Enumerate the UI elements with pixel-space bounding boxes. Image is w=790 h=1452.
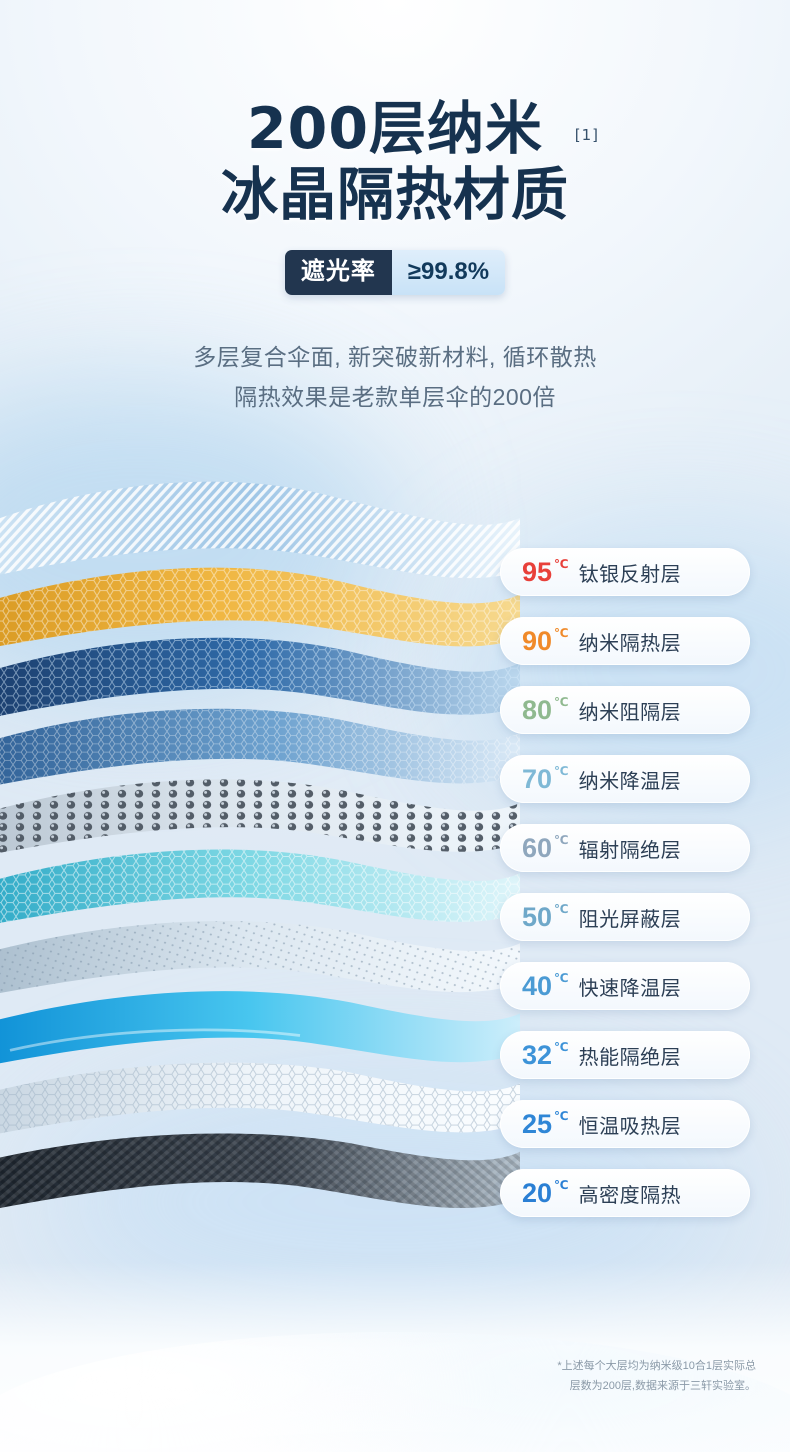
layer-label-2: 90℃ 纳米隔热层 bbox=[500, 617, 750, 665]
layer-unit-7: ℃ bbox=[554, 971, 569, 985]
shading-rate-label: 遮光率 bbox=[285, 250, 392, 295]
layer-label-list: 95℃ 钛银反射层 90℃ 纳米隔热层 80℃ 纳米阻隔层 70℃ 纳米降温层 … bbox=[500, 548, 750, 1238]
shading-rate-value: ≥99.8% bbox=[392, 250, 505, 295]
layer-label-7: 40℃ 快速降温层 bbox=[500, 962, 750, 1010]
layer-unit-6: ℃ bbox=[554, 902, 569, 916]
layer-temp-8: 32 bbox=[522, 1042, 552, 1069]
layer-temp-1: 95 bbox=[522, 559, 552, 586]
subtitle: 多层复合伞面, 新突破新材料, 循环散热 隔热效果是老款单层伞的200倍 bbox=[0, 337, 790, 417]
layer-unit-2: ℃ bbox=[554, 626, 569, 640]
layer-unit-5: ℃ bbox=[554, 833, 569, 847]
layer-name-6: 阻光屏蔽层 bbox=[579, 903, 682, 932]
layer-name-7: 快速降温层 bbox=[579, 972, 682, 1001]
title-superscript: [1] bbox=[575, 102, 599, 168]
product-infographic-page: 200层纳米[1] 冰晶隔热材质 遮光率 ≥99.8% 多层复合伞面, 新突破新… bbox=[0, 0, 790, 1452]
layer-temp-9: 25 bbox=[522, 1111, 552, 1138]
layer-temp-10: 20 bbox=[522, 1180, 552, 1207]
layer-temp-4: 70 bbox=[522, 766, 552, 793]
layer-label-5: 60℃ 辐射隔绝层 bbox=[500, 824, 750, 872]
footnote: *上述每个大层均为纳米级10合1层实际总 层数为200层,数据来源于三轩实验室。 bbox=[488, 1356, 756, 1396]
title-line-2: 冰晶隔热材质 bbox=[221, 162, 569, 228]
layer-unit-9: ℃ bbox=[554, 1109, 569, 1123]
title-line-1: 200层纳米 bbox=[247, 96, 543, 162]
layer-label-9: 25℃ 恒温吸热层 bbox=[500, 1100, 750, 1148]
layer-temp-7: 40 bbox=[522, 973, 552, 1000]
layer-unit-3: ℃ bbox=[554, 695, 569, 709]
layer-name-8: 热能隔绝层 bbox=[579, 1041, 682, 1070]
shading-rate-badge-row: 遮光率 ≥99.8% bbox=[0, 250, 790, 295]
layer-name-9: 恒温吸热层 bbox=[579, 1110, 682, 1139]
layer-temp-2: 90 bbox=[522, 628, 552, 655]
subtitle-line-2: 隔热效果是老款单层伞的200倍 bbox=[0, 377, 790, 417]
layer-unit-4: ℃ bbox=[554, 764, 569, 778]
layer-name-3: 纳米阻隔层 bbox=[579, 696, 682, 725]
layer-label-8: 32℃ 热能隔绝层 bbox=[500, 1031, 750, 1079]
footnote-line-1: *上述每个大层均为纳米级10合1层实际总 bbox=[488, 1356, 756, 1376]
subtitle-line-1: 多层复合伞面, 新突破新材料, 循环散热 bbox=[0, 337, 790, 377]
layer-label-10: 20℃ 高密度隔热 bbox=[500, 1169, 750, 1217]
layer-unit-1: ℃ bbox=[554, 557, 569, 571]
layer-name-4: 纳米降温层 bbox=[579, 765, 682, 794]
layer-label-3: 80℃ 纳米阻隔层 bbox=[500, 686, 750, 734]
layer-unit-8: ℃ bbox=[554, 1040, 569, 1054]
layer-temp-3: 80 bbox=[522, 697, 552, 724]
layer-name-10: 高密度隔热 bbox=[579, 1179, 682, 1208]
layer-label-6: 50℃ 阻光屏蔽层 bbox=[500, 893, 750, 941]
shading-rate-badge: 遮光率 ≥99.8% bbox=[285, 250, 505, 295]
header: 200层纳米[1] 冰晶隔热材质 遮光率 ≥99.8% 多层复合伞面, 新突破新… bbox=[0, 96, 790, 417]
layer-name-2: 纳米隔热层 bbox=[579, 627, 682, 656]
layer-name-5: 辐射隔绝层 bbox=[579, 834, 682, 863]
page-title: 200层纳米[1] 冰晶隔热材质 bbox=[221, 96, 569, 228]
layer-temp-5: 60 bbox=[522, 835, 552, 862]
layer-temp-6: 50 bbox=[522, 904, 552, 931]
footnote-line-2: 层数为200层,数据来源于三轩实验室。 bbox=[488, 1376, 756, 1396]
fabric-layer-illustration bbox=[0, 470, 540, 1300]
fabric-layer-10 bbox=[0, 1126, 520, 1246]
layer-name-1: 钛银反射层 bbox=[579, 558, 682, 587]
layer-unit-10: ℃ bbox=[554, 1178, 569, 1192]
layer-label-1: 95℃ 钛银反射层 bbox=[500, 548, 750, 596]
layer-label-4: 70℃ 纳米降温层 bbox=[500, 755, 750, 803]
